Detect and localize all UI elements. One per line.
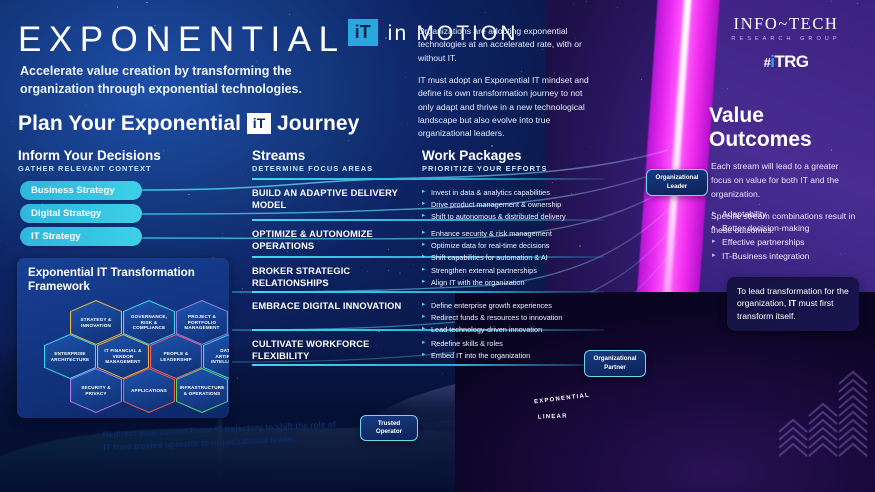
column-header-streams: Streams DETERMINE FOCUS AREAS xyxy=(252,148,373,173)
value-outcome-3: IT-Business integration xyxy=(711,250,859,264)
chevron-pattern-decoration xyxy=(777,360,869,470)
packages-title: Work Packages xyxy=(422,148,547,163)
work-package-3-2[interactable]: Lead technology-driven innovation xyxy=(422,324,610,336)
strategy-pill-0[interactable]: Business Strategy xyxy=(20,181,142,200)
transformation-callout-box: To lead transformation for the organizat… xyxy=(727,277,859,331)
title-exponential: EXPONENTIAL xyxy=(18,22,346,57)
strategy-pill-label: Business Strategy xyxy=(31,185,115,196)
hex-label: SECURITY & PRIVACY xyxy=(74,385,118,396)
work-package-group-1: Enhance security & risk managementOptimi… xyxy=(422,228,610,263)
work-package-3-0[interactable]: Define enterprise growth experiences xyxy=(422,300,610,312)
value-outcomes-title-line2: Outcomes xyxy=(709,128,859,152)
streams-subtitle: DETERMINE FOCUS AREAS xyxy=(252,164,373,173)
work-package-0-1[interactable]: Drive product management & ownership xyxy=(422,199,610,211)
plan-heading-part2: Journey xyxy=(277,112,359,136)
badge-partner-line2: Partner xyxy=(594,364,637,372)
hex-label: INFRASTRUCTURE & OPERATIONS xyxy=(180,385,225,396)
work-package-group-0: Invest in data & analytics capabilitiesD… xyxy=(422,187,610,222)
work-package-2-1[interactable]: Align IT with the organization xyxy=(422,277,610,289)
exponential-it-framework-panel: Exponential IT Transformation Framework … xyxy=(17,258,229,418)
badge-organizational-partner: OrganizationalPartner xyxy=(584,350,646,377)
hex-label: APPLICATIONS xyxy=(131,388,167,394)
stream-1-name[interactable]: OPTIMIZE & AUTONOMIZE OPERATIONS xyxy=(252,229,414,252)
decisions-title: Inform Your Decisions xyxy=(18,148,161,163)
framework-hex-grid: STRATEGY & INNOVATIONGOVERNANCE, RISK & … xyxy=(17,300,229,418)
work-package-group-4: Redefine skills & rolesEmbed IT into the… xyxy=(422,338,610,362)
work-package-0-0[interactable]: Invest in data & analytics capabilities xyxy=(422,187,610,199)
info-tech-logo: INFO~TECH RESEARCH GROUP #iTRG xyxy=(711,14,861,72)
work-package-group-2: Strengthen external partnershipsAlign IT… xyxy=(422,265,610,289)
stream-2-name[interactable]: BROKER STRATEGIC RELATIONSHIPS xyxy=(252,266,414,289)
badge-operator-line1: Trusted xyxy=(376,420,402,428)
logo-company-name: INFO~TECH xyxy=(711,14,861,34)
intro-text-block: Organizations are adopting exponential t… xyxy=(418,25,596,141)
work-package-0-2[interactable]: Shift to autonomous & distributed delive… xyxy=(422,211,610,223)
it-chip-text: iT xyxy=(355,22,371,43)
value-outcomes-title-line1: Value xyxy=(709,104,859,128)
value-outcome-0: Adaptability xyxy=(711,208,859,222)
stream-4-name[interactable]: CULTIVATE WORKFORCE FLEXIBILITY xyxy=(252,339,414,362)
infographic-canvas: EXPONENTIAL iT in MOTION Accelerate valu… xyxy=(0,0,875,492)
strategy-pill-label: IT Strategy xyxy=(31,231,81,242)
value-outcome-2: Effective partnerships xyxy=(711,236,859,250)
stream-divider-3 xyxy=(252,291,604,293)
work-package-group-3: Define enterprise growth experiencesRedi… xyxy=(422,300,610,335)
plan-it-chip: iT xyxy=(247,113,271,134)
plan-heading-part1: Plan Your Exponential xyxy=(18,112,241,136)
it-logo-chip: iT xyxy=(348,19,378,46)
column-header-decisions: Inform Your Decisions GATHER RELEVANT CO… xyxy=(18,148,161,173)
column-header-packages: Work Packages PRIORITIZE YOUR EFFORTS xyxy=(422,148,547,173)
intro-paragraph-1: Organizations are adopting exponential t… xyxy=(418,25,596,65)
work-package-4-0[interactable]: Redefine skills & roles xyxy=(422,338,610,350)
badge-trusted-operator: TrustedOperator xyxy=(360,415,418,441)
itrg-hashtag-logo: #iTRG xyxy=(711,52,861,72)
hex-label: GOVERNANCE, RISK & COMPLIANCE xyxy=(127,314,171,331)
strategy-pill-1[interactable]: Digital Strategy xyxy=(20,204,142,223)
stream-3-name[interactable]: EMBRACE DIGITAL INNOVATION xyxy=(252,301,414,313)
work-package-1-0[interactable]: Enhance security & risk management xyxy=(422,228,610,240)
intro-paragraph-2: IT must adopt an Exponential IT mindset … xyxy=(418,74,596,141)
value-outcome-1: Better decision-making xyxy=(711,222,859,236)
work-package-1-2[interactable]: Shift capabilities for automation & AI xyxy=(422,252,610,264)
badge-partner-line1: Organizational xyxy=(594,355,637,363)
badge-leader-line1: Organizational xyxy=(656,174,699,182)
subtitle: Accelerate value creation by transformin… xyxy=(20,63,320,99)
plan-heading: Plan Your Exponential iT Journey xyxy=(18,112,359,136)
packages-subtitle: PRIORITIZE YOUR EFFORTS xyxy=(422,164,547,173)
work-package-3-1[interactable]: Redirect funds & resources to innovation xyxy=(422,312,610,324)
streams-title: Streams xyxy=(252,148,373,163)
hex-label: PEOPLE & LEADERSHIP xyxy=(154,351,198,362)
work-package-4-1[interactable]: Embed IT into the organization xyxy=(422,350,610,362)
work-package-2-0[interactable]: Strengthen external partnerships xyxy=(422,265,610,277)
strategy-pill-label: Digital Strategy xyxy=(31,208,101,219)
stream-divider-0 xyxy=(252,178,604,180)
decisions-subtitle: GATHER RELEVANT CONTEXT xyxy=(18,164,161,173)
badge-organizational-leader: OrganizationalLeader xyxy=(646,169,708,196)
stream-divider-5 xyxy=(252,364,604,366)
badge-operator-line2: Operator xyxy=(376,428,402,436)
logo-tagline: RESEARCH GROUP xyxy=(711,36,861,42)
hex-label: ENTERPRISE ARCHITECTURE xyxy=(48,351,92,362)
stream-0-name[interactable]: BUILD AN ADAPTIVE DELIVERY MODEL xyxy=(252,188,414,211)
value-outcomes-paragraph-1: Each stream will lead to a greater focus… xyxy=(711,160,859,202)
in-motion-prefix: in xyxy=(388,22,409,45)
hex-label: DATA & ARTIFICIAL INTELLIGENCE xyxy=(207,348,229,365)
badge-leader-line2: Leader xyxy=(656,183,699,191)
value-outcomes-title: Value Outcomes xyxy=(709,104,859,151)
hex-label: PROJECT & PORTFOLIO MANAGEMENT xyxy=(180,314,224,331)
hex-label: IT FINANCIAL & VENDOR MANAGEMENT xyxy=(101,348,145,365)
value-outcomes-list: AdaptabilityBetter decision-makingEffect… xyxy=(711,208,859,264)
strategy-pill-2[interactable]: IT Strategy xyxy=(20,227,142,246)
itrg-rest: TRG xyxy=(774,52,808,71)
work-package-1-1[interactable]: Optimize data for real-time decisions xyxy=(422,240,610,252)
framework-title: Exponential IT Transformation Framework xyxy=(28,266,229,295)
hex-label: STRATEGY & INNOVATION xyxy=(74,317,118,328)
